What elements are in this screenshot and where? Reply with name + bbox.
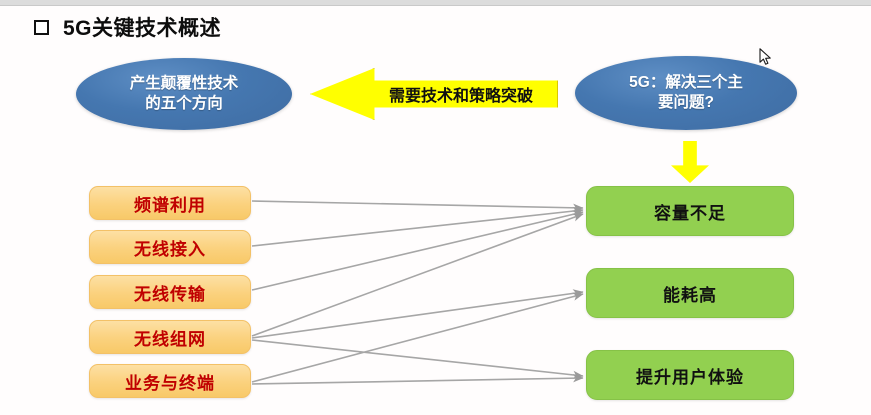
left-box-spectrum-usage[interactable]: 频谱利用: [89, 186, 251, 220]
left-box-label: 无线组网: [134, 325, 206, 350]
slide-canvas: 5G关键技术概述 产生颠覆性: [0, 0, 871, 415]
right-box-insufficient-capacity[interactable]: 容量不足: [586, 186, 794, 236]
mouse-cursor-icon: [759, 48, 773, 66]
right-box-label: 提升用户体验: [636, 363, 744, 388]
ellipse-left-line1: 产生颠覆性技术: [130, 74, 239, 94]
ellipse-right-line1: 5G：解决三个主: [629, 73, 743, 93]
left-box-service-and-terminal[interactable]: 业务与终端: [89, 364, 251, 398]
ellipse-left-line2: 的五个方向: [130, 94, 239, 114]
page-title-text: 5G关键技术概述: [63, 12, 221, 42]
ellipse-right-three-problems[interactable]: 5G：解决三个主 要问题?: [575, 56, 797, 130]
arrow-down-icon: [671, 141, 709, 183]
left-box-wireless-networking[interactable]: 无线组网: [89, 320, 251, 354]
arrow-left-label: 需要技术和策略突破: [368, 68, 554, 120]
arrow-left-breakthrough[interactable]: 需要技术和策略突破: [310, 68, 558, 120]
page-title: 5G关键技术概述: [34, 12, 221, 42]
right-box-label: 能耗高: [663, 281, 717, 306]
right-box-improve-user-experience[interactable]: 提升用户体验: [586, 350, 794, 400]
left-box-label: 无线传输: [134, 280, 206, 305]
ellipse-left-disruptive-directions[interactable]: 产生颠覆性技术 的五个方向: [76, 58, 292, 130]
left-box-label: 无线接入: [134, 235, 206, 260]
ellipse-right-line2: 要问题?: [629, 93, 743, 113]
square-bullet-icon: [34, 20, 49, 35]
right-box-high-energy-consumption[interactable]: 能耗高: [586, 268, 794, 318]
right-box-label: 容量不足: [654, 199, 726, 224]
left-box-label: 业务与终端: [125, 369, 215, 394]
left-box-wireless-transmission[interactable]: 无线传输: [89, 275, 251, 309]
window-top-bar: [0, 0, 871, 6]
left-box-label: 频谱利用: [134, 191, 206, 216]
left-box-wireless-access[interactable]: 无线接入: [89, 230, 251, 264]
